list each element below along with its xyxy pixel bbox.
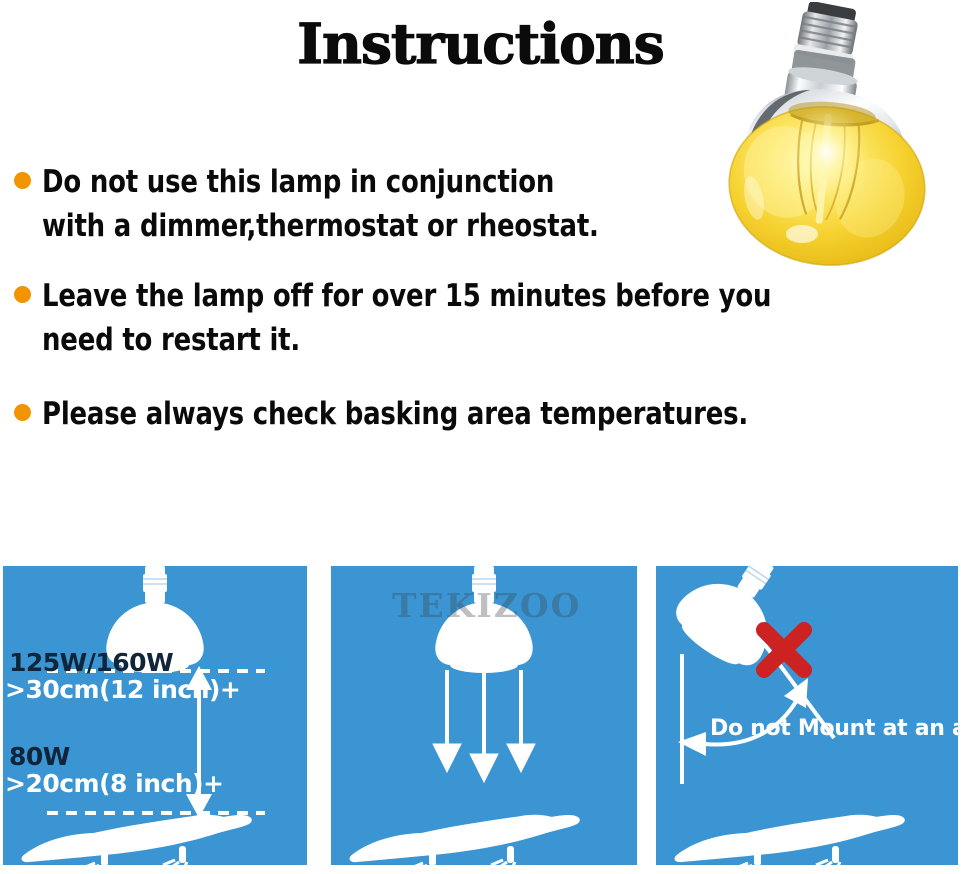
instruction-text-no-dimmer: Do not use this lamp in conjunction with…	[42, 160, 599, 248]
bullet-dot-icon	[14, 404, 31, 421]
instruction-list: Do not use this lamp in conjunction with…	[14, 160, 944, 462]
bullet-dot-icon	[14, 172, 31, 189]
bullet-dot-icon	[14, 286, 31, 303]
lizard-silhouette-icon	[675, 815, 905, 865]
heat-ray-arrows	[433, 670, 535, 782]
mounting-distance-graphic	[3, 566, 307, 865]
list-item: Leave the lamp off for over 15 minutes b…	[14, 274, 944, 362]
list-item: Please always check basking area tempera…	[14, 392, 944, 436]
lizard-silhouette-icon	[350, 815, 580, 865]
instruction-text-check-temp: Please always check basking area tempera…	[42, 392, 748, 436]
list-item: Do not use this lamp in conjunction with…	[14, 160, 944, 248]
lizard-silhouette-icon	[22, 815, 252, 865]
label-wattage-low: 80W	[9, 742, 70, 771]
label-distance-low: >20cm(8 inch)+	[5, 769, 224, 798]
label-distance-high: >30cm(12 inch)+	[5, 675, 240, 704]
instruction-text-cooldown: Leave the lamp off for over 15 minutes b…	[42, 274, 771, 362]
panel-mounting-distance	[3, 566, 307, 865]
label-wattage-high: 125W/160W	[9, 648, 173, 677]
caption-do-not-mount-at-angle: Do not Mount at an angle	[710, 716, 961, 741]
page-title: Instructions	[0, 16, 961, 71]
brand-watermark: TEKIZOO	[392, 586, 581, 625]
